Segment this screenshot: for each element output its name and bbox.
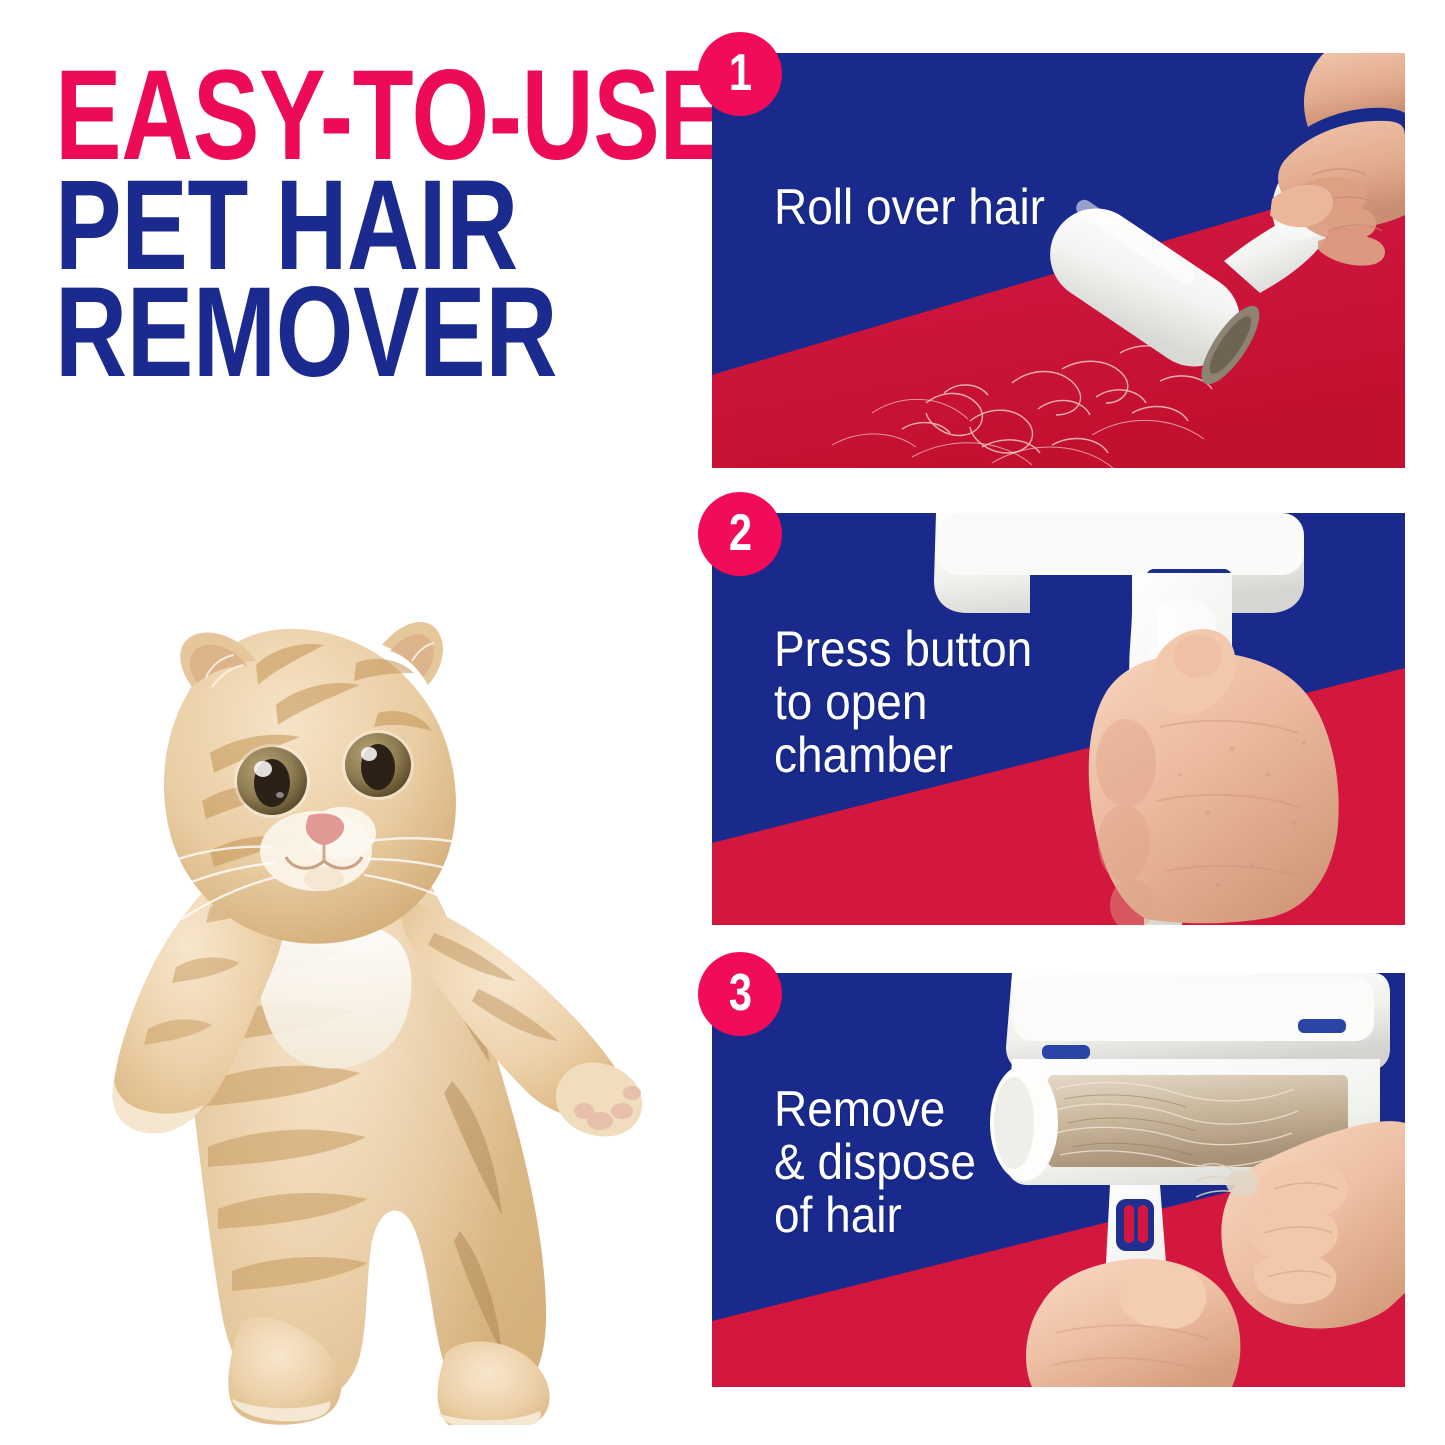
infographic-canvas: EASY-TO-USE PET HAIR REMOVER [0, 0, 1445, 1445]
step-1-badge: 1 [698, 32, 782, 116]
step-panel-1-inner: Roll over hair [712, 53, 1405, 468]
headline-line-3: REMOVER [55, 279, 539, 387]
step-2-number: 2 [728, 507, 751, 559]
step-1-caption: Roll over hair [774, 181, 1045, 234]
step-2-badge: 2 [698, 492, 782, 576]
step-panel-3-inner: Remove & dispose of hair [712, 973, 1405, 1387]
step-3-number: 3 [728, 967, 751, 1019]
kitten-illustration [60, 515, 680, 1425]
step-photo-roll-over-hair [712, 53, 1405, 468]
page-title: EASY-TO-USE PET HAIR REMOVER [55, 62, 675, 387]
step-3-badge: 3 [698, 952, 782, 1036]
step-3-caption: Remove & dispose of hair [774, 1083, 976, 1242]
step-2-caption: Press button to open chamber [774, 623, 1032, 782]
kitten-hero-image [60, 515, 680, 1425]
step-panel-2-inner: Press button to open chamber [712, 513, 1405, 925]
step-panel-1: Roll over hair 1 [712, 53, 1405, 468]
step-panel-3: Remove & dispose of hair 3 [712, 973, 1405, 1387]
step-panel-2: Press button to open chamber 2 [712, 513, 1405, 925]
step-1-number: 1 [728, 47, 751, 99]
